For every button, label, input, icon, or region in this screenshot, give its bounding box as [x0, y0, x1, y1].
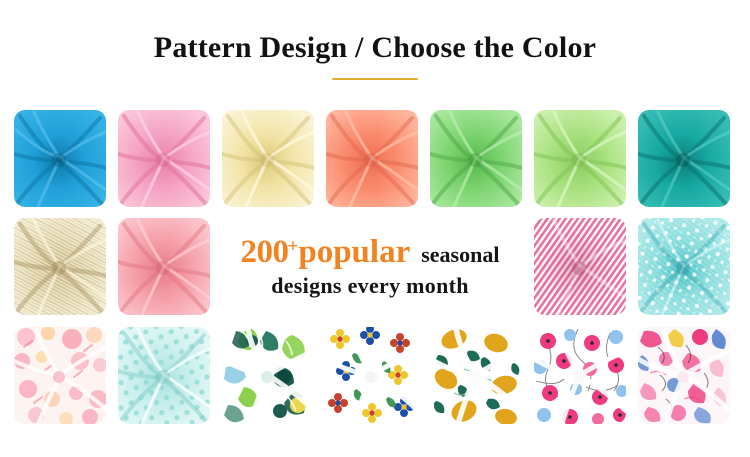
swatch-solid-green-knit[interactable]	[430, 110, 522, 207]
swatch-solid-butter-yellow-knit[interactable]	[222, 110, 314, 207]
swatch-row-3	[0, 327, 750, 424]
swatch-green-tropical-floral[interactable]	[222, 327, 314, 424]
swatch-pink-blue-poppy-floral[interactable]	[534, 327, 626, 424]
swatch-solid-teal-knit[interactable]	[638, 110, 730, 207]
promo-highlight-word: popular	[298, 234, 410, 270]
swatch-primary-daisy-floral[interactable]	[326, 327, 418, 424]
swatch-aqua-dotted-knit[interactable]	[118, 327, 210, 424]
promo-caption-line-1: 200+popularseasonal	[241, 236, 500, 269]
promo-caption: 200+popularseasonal designs every month	[205, 218, 535, 315]
swatch-pink-striped-knit[interactable]	[534, 218, 626, 315]
swatch-solid-rose-pink-knit[interactable]	[118, 218, 210, 315]
swatch-row-1	[0, 110, 750, 207]
title-divider	[332, 78, 418, 80]
swatch-solid-coral-knit[interactable]	[326, 110, 418, 207]
pattern-design-banner: Pattern Design / Choose the Color	[0, 0, 750, 457]
swatch-pink-blue-abstract-floral[interactable]	[638, 327, 730, 424]
promo-plus-sign: +	[288, 236, 299, 257]
swatch-solid-pink-knit[interactable]	[118, 110, 210, 207]
promo-count: 200	[241, 234, 289, 270]
swatch-aqua-ditsy-floral-knit[interactable]	[638, 218, 730, 315]
fabric-swatch-grid: 200+popularseasonal designs every month	[0, 96, 750, 444]
swatch-solid-blue-knit[interactable]	[14, 110, 106, 207]
swatch-solid-lime-green-knit[interactable]	[534, 110, 626, 207]
promo-caption-line-2: designs every month	[271, 275, 469, 297]
swatch-pink-watercolor-floral[interactable]	[14, 327, 106, 424]
promo-word-seasonal: seasonal	[421, 242, 499, 267]
swatch-lemon-citrus-print[interactable]	[430, 327, 522, 424]
page-title: Pattern Design / Choose the Color	[154, 33, 596, 63]
banner-header: Pattern Design / Choose the Color	[0, 0, 750, 96]
swatch-textured-beige-slub-knit[interactable]	[14, 218, 106, 315]
